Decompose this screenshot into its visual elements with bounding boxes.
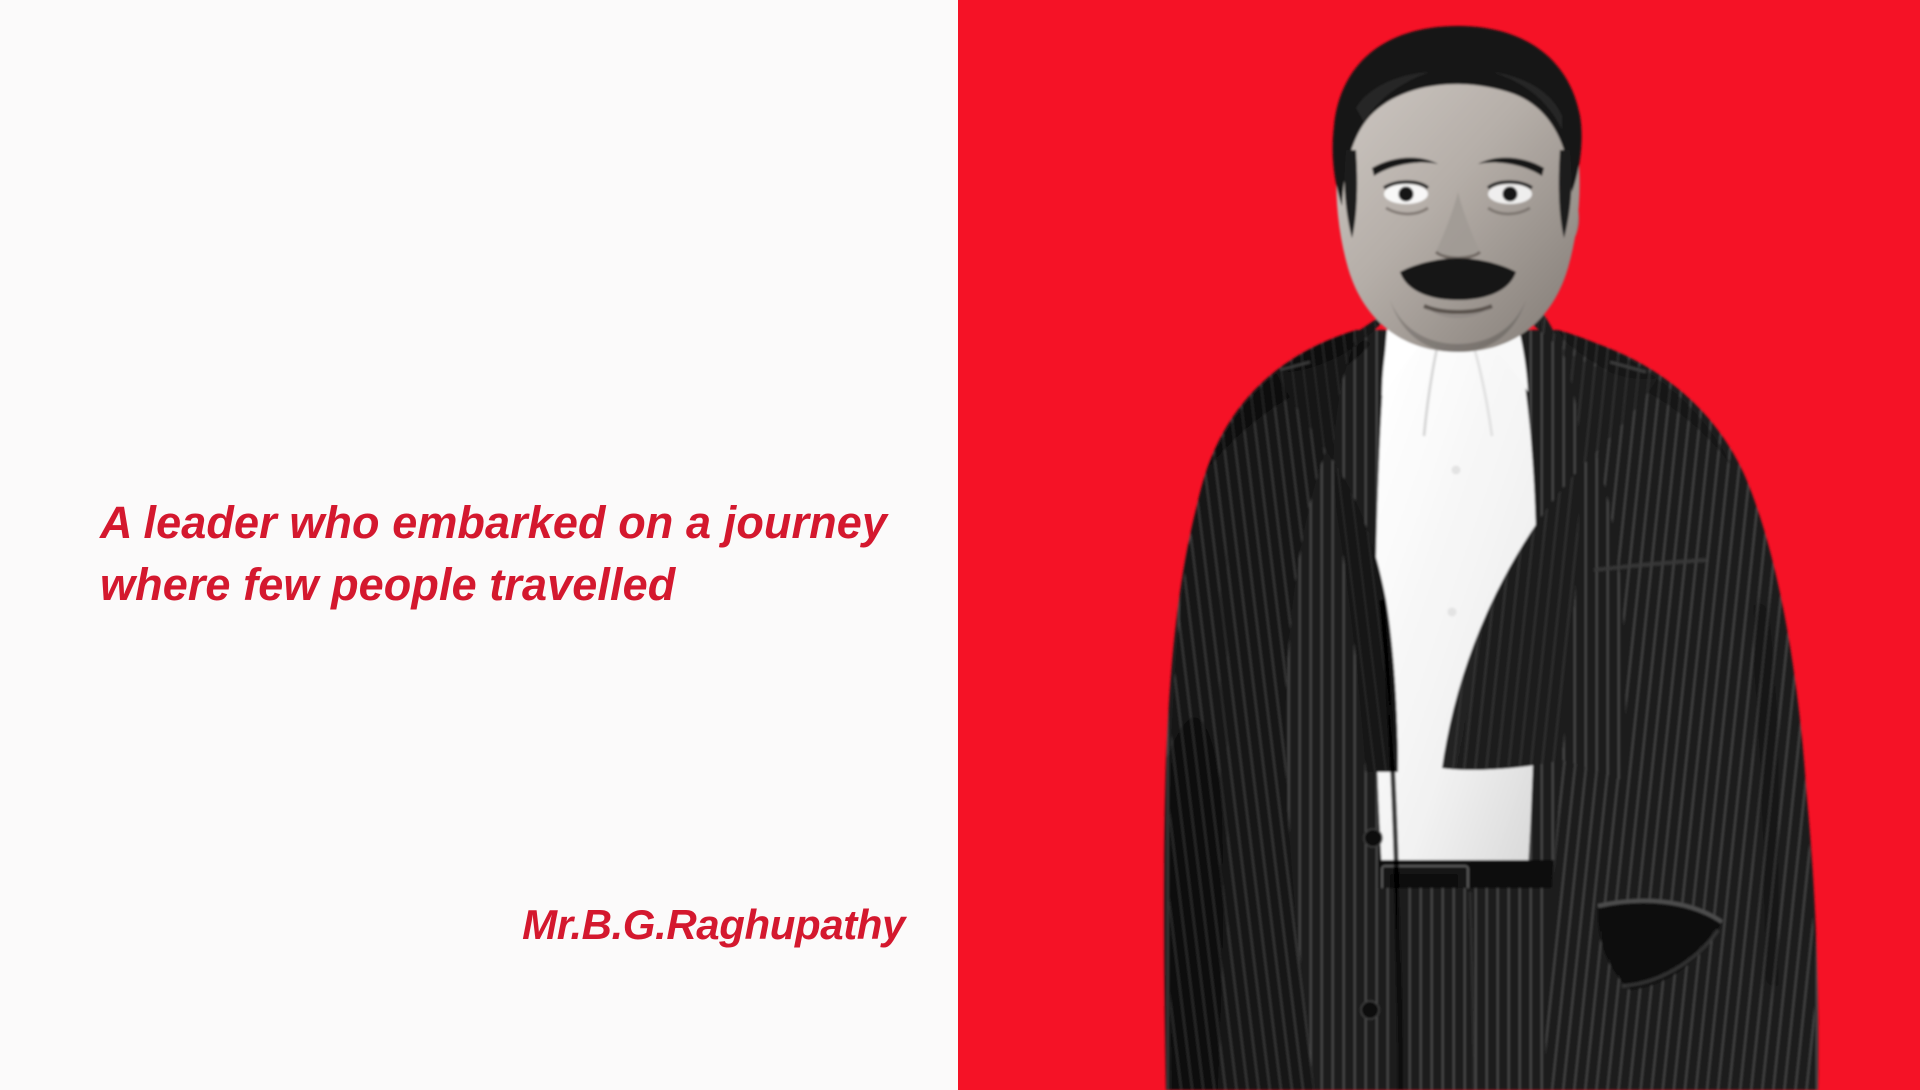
portrait-panel xyxy=(958,0,1920,1090)
portrait-figure xyxy=(958,0,1920,1090)
shirt-button-1 xyxy=(1452,466,1461,475)
iris-left xyxy=(1399,187,1414,202)
quote-line-2: where few people travelled xyxy=(100,554,920,616)
quote-line-1: A leader who embarked on a journey xyxy=(100,492,920,554)
suit-vignette-left xyxy=(1166,717,1223,1090)
attribution-name: Mr.B.G.Raghupathy xyxy=(522,900,905,950)
shirt-button-2 xyxy=(1448,608,1457,617)
portrait-illustration xyxy=(958,0,1920,1090)
quote-block: A leader who embarked on a journey where… xyxy=(100,492,920,616)
left-text-panel: A leader who embarked on a journey where… xyxy=(0,0,958,1090)
slide-root: A leader who embarked on a journey where… xyxy=(0,0,1920,1090)
jacket-button-1 xyxy=(1364,829,1382,847)
jacket-button-2 xyxy=(1361,1001,1379,1019)
iris-right xyxy=(1503,187,1518,202)
attribution-block: Mr.B.G.Raghupathy xyxy=(100,900,905,950)
